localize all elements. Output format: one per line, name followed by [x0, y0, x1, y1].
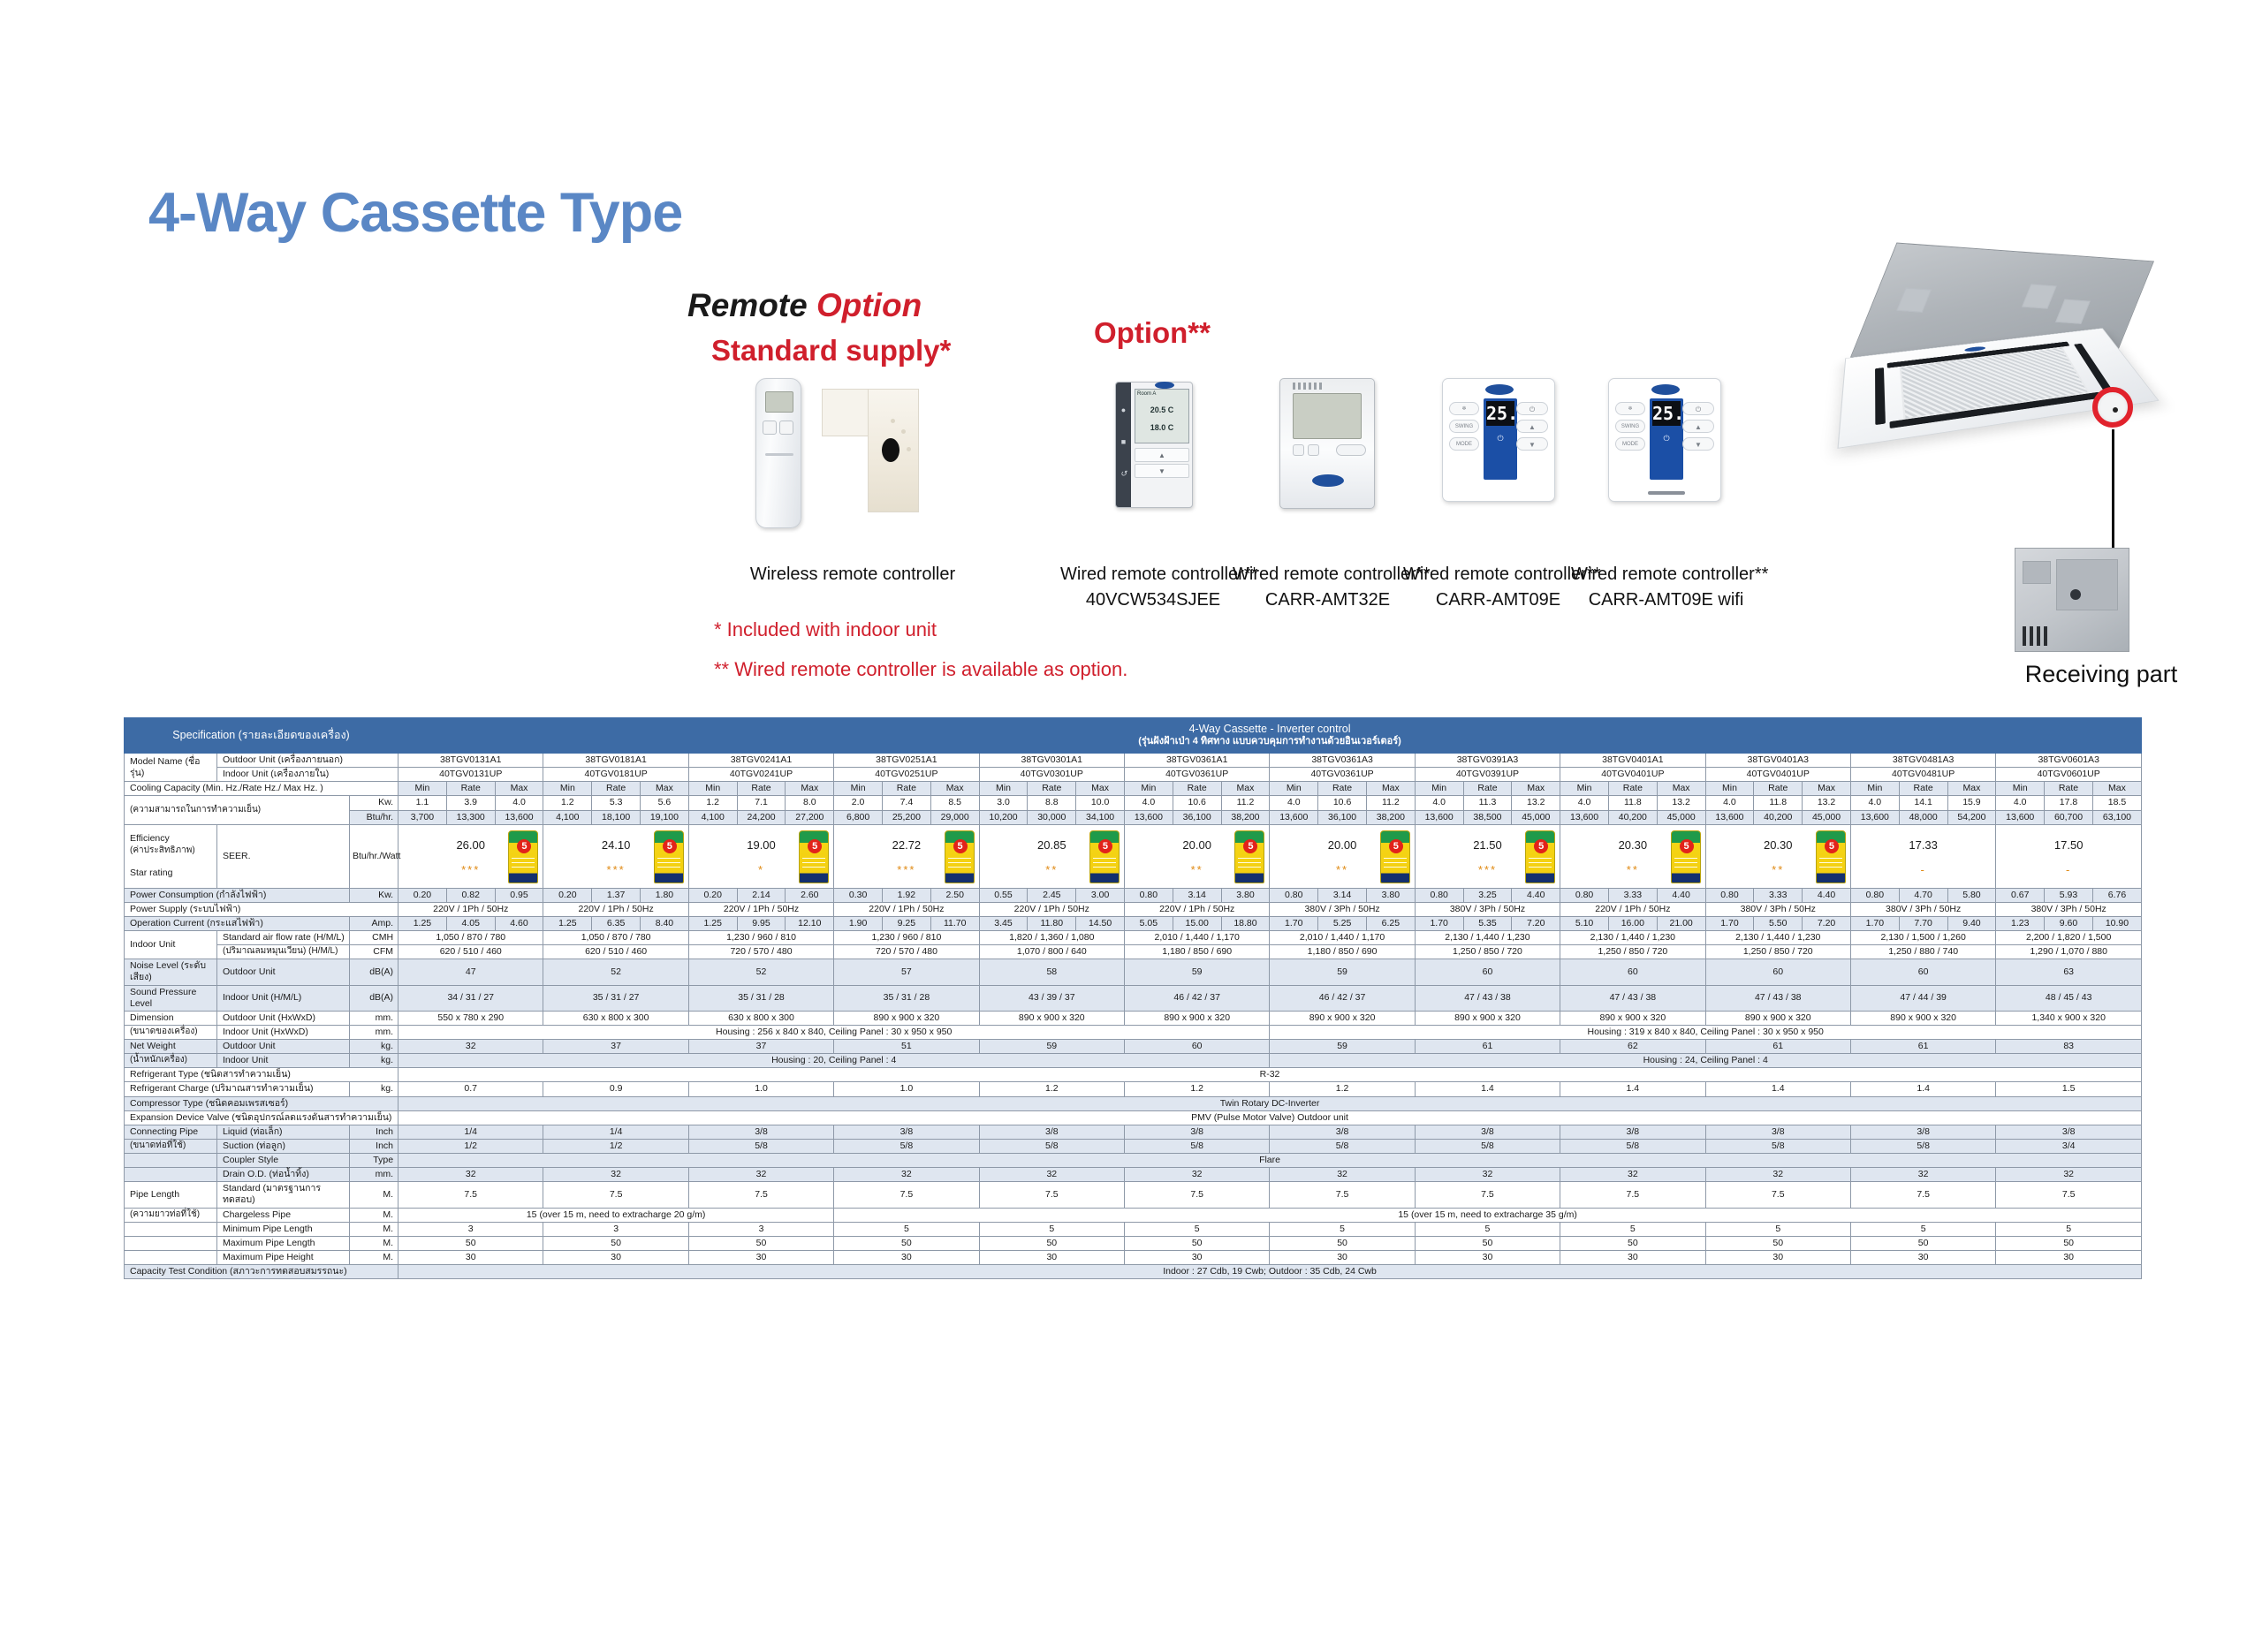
- controller-keys: ▲ ▼: [1135, 448, 1189, 480]
- caption-model: CARR-AMT09E wifi: [1589, 590, 1744, 610]
- cell-cooling-kw: 13.2: [1657, 796, 1705, 810]
- cell-pipe-max: 50: [979, 1236, 1124, 1250]
- spacer: [125, 1236, 217, 1250]
- option-label: Option**: [1094, 316, 1211, 350]
- remote-option-heading-bold: Remote: [687, 287, 808, 323]
- cell-refrigerant-charge: 1.0: [834, 1082, 979, 1096]
- cell-indoor-model: 40TGV0401UP: [1705, 768, 1850, 782]
- cell-outdoor-model: 38TGV0361A1: [1124, 754, 1269, 768]
- cell-outdoor-model: 38TGV0361A3: [1270, 754, 1415, 768]
- cell-cooling-kw: 5.6: [641, 796, 689, 810]
- cell-pipe-height: 30: [1270, 1250, 1415, 1264]
- caption-text: Wired remote controller**: [1233, 565, 1430, 584]
- cell-noise-outdoor: 52: [688, 959, 833, 985]
- controller-left-buttons: ❄ SWING MODE: [1449, 402, 1479, 455]
- cell-pipe-max: 50: [1850, 1236, 1995, 1250]
- cell-drain-od: 32: [399, 1168, 543, 1182]
- cell-pipe-min: 3: [688, 1222, 833, 1236]
- cell-power-supply: 220V / 1Ph / 50Hz: [399, 902, 543, 916]
- cell-indoor-model: 40TGV0301UP: [979, 768, 1124, 782]
- cell-cooling-kw: 4.0: [1270, 796, 1318, 810]
- cell-indoor-model: 40TGV0361UP: [1124, 768, 1269, 782]
- cell-seer-value: 17.33: [1854, 838, 1993, 853]
- caption-wired-carr-amt09e-wifi: Wired remote controller** CARR-AMT09E wi…: [1571, 562, 1761, 613]
- cell-pipe-max: 50: [1415, 1236, 1560, 1250]
- cell-pipe-suction: 1/2: [543, 1139, 688, 1153]
- cell-cooling-btu: 13,300: [446, 810, 495, 824]
- swing-button: SWING: [1449, 420, 1479, 433]
- cell-outdoor-model: 38TGV0241A1: [688, 754, 833, 768]
- caption-model: CARR-AMT09E: [1436, 590, 1560, 610]
- cell-outdoor-model: 38TGV0391A3: [1415, 754, 1560, 768]
- cell-cooling-btu: 40,200: [1754, 810, 1803, 824]
- cell-weight-outdoor: 61: [1850, 1040, 1995, 1054]
- unit-kw: Kw.: [350, 888, 399, 902]
- cell-pipe-min: 3: [399, 1222, 543, 1236]
- energy-label-no5-icon: 5: [508, 830, 538, 883]
- cell-cooling-btu: 45,000: [1512, 810, 1560, 824]
- cell-outdoor-model: 38TGV0301A1: [979, 754, 1124, 768]
- cell-weight-outdoor: 83: [1996, 1040, 2142, 1054]
- spec-header: Specification (รายละเอียดของเครื่อง): [125, 718, 399, 754]
- unit-m: M.: [350, 1182, 399, 1208]
- row-label-connecting-pipe-thai: (ขนาดท่อที่ใช้): [125, 1139, 217, 1153]
- carrier-logo-icon: [1651, 384, 1680, 395]
- cell-weight-outdoor: 61: [1415, 1040, 1560, 1054]
- cell-refrigerant-charge: 0.9: [543, 1082, 688, 1096]
- cell-operation-current: 11.80: [1028, 916, 1076, 930]
- cell-power-supply: 380V / 3Ph / 50Hz: [1850, 902, 1995, 916]
- cell-cooling-btu: 4,100: [688, 810, 737, 824]
- cell-pipe-standard: 7.5: [1850, 1182, 1995, 1208]
- cell-pipe-max: 50: [834, 1236, 979, 1250]
- table-row: (ขนาดของเครื่อง)Indoor Unit (HxWxD)mm.Ho…: [125, 1025, 2142, 1039]
- cell-pipe-max: 50: [1124, 1236, 1269, 1250]
- caption-wired-carr-amt32e: Wired remote controller** CARR-AMT32E: [1233, 562, 1423, 613]
- cell-air-flow-cfm: 1,250 / 850 / 720: [1415, 945, 1560, 959]
- row-label-indoor-unit: Indoor Unit: [217, 1054, 350, 1068]
- receiving-part-image: [2015, 548, 2129, 652]
- cell-dimension-outdoor: 630 x 800 x 300: [688, 1011, 833, 1025]
- cell-chargeless-left: 15 (over 15 m, need to extracharge 20 g/…: [399, 1208, 834, 1222]
- cell-pipe-max: 50: [688, 1236, 833, 1250]
- cell-operation-current: 5.25: [1318, 916, 1367, 930]
- table-row: Coupler StyleTypeFlare: [125, 1154, 2142, 1168]
- receiver-slits: [2023, 626, 2060, 646]
- cell-power-supply: 380V / 3Ph / 50Hz: [1705, 902, 1850, 916]
- cell-cooling-kw: 11.8: [1754, 796, 1803, 810]
- cell-power-consumption: 1.92: [883, 888, 931, 902]
- cell-cooling-btu: 6,800: [834, 810, 883, 824]
- row-label-outdoor-hwd: Outdoor Unit (HxWxD): [217, 1011, 350, 1025]
- row-label-outdoor-unit: Outdoor Unit: [217, 1040, 350, 1054]
- wireless-remote-slot: [765, 453, 793, 456]
- cell-power-consumption: 0.80: [1705, 888, 1754, 902]
- cell-operation-current: 5.10: [1560, 916, 1609, 930]
- cell-power-consumption: 0.82: [446, 888, 495, 902]
- wired-remote-controller-carr-amt09e-wifi-image: ❄ SWING MODE 25. ❄ ❄ ⏻ ⏻ ▲ ▼: [1608, 378, 1721, 502]
- cell-air-flow-cmh: 1,050 / 870 / 780: [399, 931, 543, 945]
- energy-label-no5-icon: 5: [1525, 830, 1555, 883]
- temperature-display: 25.: [1652, 401, 1681, 426]
- unit-mm: mm.: [350, 1011, 399, 1025]
- cell-coupler-style: Flare: [399, 1154, 2142, 1168]
- cell-power-consumption: 4.40: [1803, 888, 1851, 902]
- cell-noise-outdoor: 57: [834, 959, 979, 985]
- cell-cooling-btu: 10,200: [979, 810, 1028, 824]
- up-button-icon: ▲: [1682, 420, 1714, 433]
- cell-pipe-liquid: 3/8: [1850, 1125, 1995, 1139]
- cell-drain-od: 32: [1996, 1168, 2142, 1182]
- cell-cooling-btu: 60,700: [2045, 810, 2093, 824]
- cell-cooling-kw: 18.5: [2092, 796, 2141, 810]
- col-subheader-rate: Rate: [883, 782, 931, 796]
- row-label-indoor-unit-hml: Indoor Unit (H/M/L): [217, 985, 350, 1011]
- cell-air-flow-cmh: 1,820 / 1,360 / 1,080: [979, 931, 1124, 945]
- row-label-cooling-capacity-thai: (ความสามารถในการทำความเย็น): [125, 796, 350, 824]
- cell-pipe-standard: 7.5: [1996, 1182, 2142, 1208]
- row-label-indoor-unit-group: Indoor Unit: [125, 931, 217, 959]
- cell-indoor-model: 40TGV0401UP: [1560, 768, 1705, 782]
- cell-cooling-btu: 25,200: [883, 810, 931, 824]
- energy-label-no5-icon: 5: [799, 830, 829, 883]
- cell-drain-od: 32: [1850, 1168, 1995, 1182]
- cell-power-consumption: 0.95: [495, 888, 543, 902]
- lcd-temp-heat: 18.0 C: [1137, 423, 1187, 432]
- controller-vents: [1293, 383, 1328, 390]
- cell-indoor-model: 40TGV0391UP: [1415, 768, 1560, 782]
- cell-cooling-btu: 29,000: [930, 810, 979, 824]
- cell-cooling-kw: 4.0: [495, 796, 543, 810]
- wireless-remote-buttons: [763, 421, 796, 436]
- controller-display-panel: 25. ❄ ❄ ⏻: [1650, 398, 1683, 480]
- cell-air-flow-cfm: 1,250 / 850 / 720: [1705, 945, 1850, 959]
- unit-btuhr: Btu/hr.: [350, 810, 399, 824]
- cell-power-consumption: 5.93: [2045, 888, 2093, 902]
- cell-pipe-suction: 5/8: [1124, 1139, 1269, 1153]
- table-row: Cooling Capacity (Min. Hz./Rate Hz./ Max…: [125, 782, 2142, 796]
- cell-compressor-type: Twin Rotary DC-Inverter: [399, 1096, 2142, 1110]
- cell-operation-current: 5.05: [1124, 916, 1173, 930]
- cell-weight-outdoor: 59: [1270, 1040, 1415, 1054]
- row-label-refrigerant-charge: Refrigerant Charge (ปริมาณสารทำความเย็น): [125, 1082, 350, 1096]
- cell-operation-current: 18.80: [1221, 916, 1270, 930]
- cell-pipe-min: 5: [1705, 1222, 1850, 1236]
- table-row: DimensionOutdoor Unit (HxWxD)mm.550 x 78…: [125, 1011, 2142, 1025]
- cell-weight-outdoor: 61: [1705, 1040, 1850, 1054]
- receiving-part-label: Receiving part: [2013, 661, 2190, 688]
- chassis-panel: [2055, 299, 2091, 324]
- up-button-icon: ▲: [1516, 420, 1548, 433]
- cell-pipe-standard: 7.5: [1415, 1182, 1560, 1208]
- cell-air-flow-cfm: 1,180 / 850 / 690: [1270, 945, 1415, 959]
- controller-left-buttons: ❄ SWING MODE: [1615, 402, 1645, 455]
- cell-pipe-height: 30: [1705, 1250, 1850, 1264]
- cell-pipe-height: 30: [1996, 1250, 2142, 1264]
- cell-pipe-max: 50: [1270, 1236, 1415, 1250]
- key-down-icon: ▼: [1135, 464, 1189, 478]
- wifi-module-strip: [1648, 491, 1685, 495]
- cell-refrigerant-type: R-32: [399, 1068, 2142, 1082]
- cell-seer: 24.10***5: [543, 824, 688, 888]
- col-subheader-rate: Rate: [2045, 782, 2093, 796]
- down-button-icon: ▼: [1682, 437, 1714, 451]
- cell-cooling-btu: 24,200: [737, 810, 786, 824]
- cell-noise-indoor: 35 / 31 / 28: [688, 985, 833, 1011]
- cell-cooling-btu: 34,100: [1076, 810, 1125, 824]
- unit-mm: mm.: [350, 1025, 399, 1039]
- cell-air-flow-cmh: 2,130 / 1,440 / 1,230: [1415, 931, 1560, 945]
- unit-amp: Amp.: [350, 916, 399, 930]
- cell-power-consumption: 3.25: [1463, 888, 1512, 902]
- cell-air-flow-cmh: 2,010 / 1,440 / 1,170: [1124, 931, 1269, 945]
- cell-air-flow-cmh: 2,130 / 1,440 / 1,230: [1705, 931, 1850, 945]
- cell-pipe-liquid: 3/8: [1560, 1125, 1705, 1139]
- col-subheader-rate: Rate: [446, 782, 495, 796]
- cell-operation-current: 7.20: [1803, 916, 1851, 930]
- energy-label-no5-icon: 5: [945, 830, 975, 883]
- cell-cooling-btu: 13,600: [1270, 810, 1318, 824]
- cell-outdoor-model: 38TGV0251A1: [834, 754, 979, 768]
- cell-air-flow-cfm: 1,180 / 850 / 690: [1124, 945, 1269, 959]
- cell-pipe-liquid: 3/8: [1705, 1125, 1850, 1139]
- cell-pipe-liquid: 3/8: [834, 1125, 979, 1139]
- cell-pipe-max: 50: [399, 1236, 543, 1250]
- unit-m: M.: [350, 1208, 399, 1222]
- row-label-net-weight-thai: (น้ำหนักเครื่อง): [125, 1054, 217, 1068]
- cell-power-consumption: 0.80: [1850, 888, 1899, 902]
- cell-indoor-model: 40TGV0361UP: [1270, 768, 1415, 782]
- cell-power-consumption: 3.33: [1754, 888, 1803, 902]
- cell-cooling-btu: 13,600: [1415, 810, 1463, 824]
- receiver-recess: [2023, 561, 2051, 584]
- cell-cooling-kw: 15.9: [1947, 796, 1996, 810]
- row-label-indoor-unit: Indoor Unit (เครื่องภายใน): [217, 768, 399, 782]
- cell-cooling-kw: 10.6: [1318, 796, 1367, 810]
- cell-noise-indoor: 46 / 42 / 37: [1270, 985, 1415, 1011]
- holder-dot: [901, 429, 906, 434]
- cell-dimension-outdoor: 630 x 800 x 300: [543, 1011, 688, 1025]
- cell-cooling-kw: 1.2: [688, 796, 737, 810]
- cell-operation-current: 4.05: [446, 916, 495, 930]
- cell-cooling-kw: 4.0: [1415, 796, 1463, 810]
- cell-cooling-kw: 1.1: [399, 796, 447, 810]
- cell-noise-indoor: 48 / 45 / 43: [1996, 985, 2142, 1011]
- col-subheader-max: Max: [930, 782, 979, 796]
- cell-refrigerant-charge: 1.2: [1270, 1082, 1415, 1096]
- cell-cooling-kw: 11.8: [1608, 796, 1657, 810]
- cell-pipe-min: 5: [1996, 1222, 2142, 1236]
- caption-model: 40VCW534SJEE: [1086, 590, 1220, 610]
- row-label-capacity-test: Capacity Test Condition (สภาวะการทดสอบสม…: [125, 1265, 399, 1279]
- cell-pipe-height: 30: [399, 1250, 543, 1264]
- table-row: Maximum Pipe HeightM.3030303030303030303…: [125, 1250, 2142, 1264]
- cell-noise-outdoor: 58: [979, 959, 1124, 985]
- cell-operation-current: 1.25: [688, 916, 737, 930]
- col-subheader-min: Min: [399, 782, 447, 796]
- col-subheader-rate: Rate: [1318, 782, 1367, 796]
- cell-power-consumption: 2.60: [786, 888, 834, 902]
- table-row: Power Consumption (กำลังไฟฟ้า)Kw.0.200.8…: [125, 888, 2142, 902]
- cell-pipe-min: 5: [1415, 1222, 1560, 1236]
- cell-cooling-btu: 13,600: [1850, 810, 1899, 824]
- spacer: [125, 1168, 217, 1182]
- remote-option-heading-italic: Option: [816, 287, 922, 323]
- cell-refrigerant-charge: 1.4: [1415, 1082, 1560, 1096]
- receiving-part-leader-line: [2112, 429, 2114, 551]
- air-louver: [1875, 368, 1886, 425]
- col-subheader-max: Max: [1076, 782, 1125, 796]
- cell-power-consumption: 5.80: [1947, 888, 1996, 902]
- cell-refrigerant-charge: 1.4: [1850, 1082, 1995, 1096]
- cell-operation-current: 15.00: [1173, 916, 1221, 930]
- down-button-icon: ▼: [1516, 437, 1548, 451]
- swing-button: SWING: [1615, 420, 1645, 433]
- cell-air-flow-cfm: 720 / 570 / 480: [688, 945, 833, 959]
- cell-operation-current: 1.25: [399, 916, 447, 930]
- cell-pipe-height: 30: [1850, 1250, 1995, 1264]
- cell-cooling-btu: 38,200: [1221, 810, 1270, 824]
- cell-operation-current: 8.40: [641, 916, 689, 930]
- cell-pipe-min: 3: [543, 1222, 688, 1236]
- cell-noise-indoor: 35 / 31 / 28: [834, 985, 979, 1011]
- cell-weight-outdoor: 60: [1124, 1040, 1269, 1054]
- row-label-net-weight: Net Weight: [125, 1040, 217, 1054]
- col-subheader-min: Min: [1270, 782, 1318, 796]
- table-row: Power Supply (ระบบไฟฟ้า)220V / 1Ph / 50H…: [125, 902, 2142, 916]
- cell-pipe-max: 50: [1560, 1236, 1705, 1250]
- cell-cooling-kw: 2.0: [834, 796, 883, 810]
- cell-noise-outdoor: 59: [1270, 959, 1415, 985]
- cell-pipe-standard: 7.5: [399, 1182, 543, 1208]
- cell-refrigerant-charge: 1.4: [1705, 1082, 1850, 1096]
- cell-power-consumption: 0.67: [1996, 888, 2045, 902]
- cell-operation-current: 4.60: [495, 916, 543, 930]
- row-label-air-flow: Standard air flow rate (H/M/L): [217, 931, 350, 945]
- cell-operation-current: 1.70: [1850, 916, 1899, 930]
- cell-refrigerant-charge: 1.0: [688, 1082, 833, 1096]
- table-row: Maximum Pipe LengthM.5050505050505050505…: [125, 1236, 2142, 1250]
- col-subheader-rate: Rate: [1028, 782, 1076, 796]
- cell-cooling-btu: 13,600: [1124, 810, 1173, 824]
- row-label-drain-od: Drain O.D. (ท่อน้ำทิ้ง): [217, 1168, 350, 1182]
- cell-drain-od: 32: [1270, 1168, 1415, 1182]
- cell-operation-current: 5.50: [1754, 916, 1803, 930]
- cell-seer: 17.50-: [1996, 824, 2142, 888]
- cell-pipe-min: 5: [834, 1222, 979, 1236]
- cell-pipe-suction: 5/8: [979, 1139, 1124, 1153]
- table-row: Model Name (ชื่อรุ่น)Outdoor Unit (เครื่…: [125, 754, 2142, 768]
- table-row: Refrigerant Type (ชนิดสารทำความเย็น)R-32: [125, 1068, 2142, 1082]
- cell-cooling-btu: 54,200: [1947, 810, 1996, 824]
- cell-air-flow-cmh: 2,130 / 1,500 / 1,260: [1850, 931, 1995, 945]
- cell-indoor-model: 40TGV0481UP: [1850, 768, 1995, 782]
- cell-pipe-height: 30: [1415, 1250, 1560, 1264]
- cell-seer: 20.30**5: [1705, 824, 1850, 888]
- col-subheader-rate: Rate: [1463, 782, 1512, 796]
- cell-operation-current: 3.45: [979, 916, 1028, 930]
- standard-supply-label: Standard supply*: [711, 334, 951, 368]
- cell-power-consumption: 0.20: [543, 888, 592, 902]
- unit-btuhr-watt: Btu/hr./Watt: [350, 824, 399, 888]
- cell-power-consumption: 1.37: [592, 888, 641, 902]
- cell-indoor-model: 40TGV0251UP: [834, 768, 979, 782]
- cell-dimension-outdoor: 890 x 900 x 320: [1705, 1011, 1850, 1025]
- cell-power-consumption: 2.50: [930, 888, 979, 902]
- cell-power-consumption: 0.80: [1415, 888, 1463, 902]
- cell-power-consumption: 0.80: [1560, 888, 1609, 902]
- col-subheader-rate: Rate: [592, 782, 641, 796]
- receiver-led-icon: [2070, 589, 2081, 600]
- controller-right-buttons: ⏻ ▲ ▼: [1516, 402, 1548, 455]
- cell-pipe-liquid: 3/8: [1415, 1125, 1560, 1139]
- cell-power-supply: 220V / 1Ph / 50Hz: [834, 902, 979, 916]
- cell-cooling-btu: 38,500: [1463, 810, 1512, 824]
- col-subheader-min: Min: [834, 782, 883, 796]
- cell-operation-current: 7.20: [1512, 916, 1560, 930]
- cell-dimension-outdoor: 890 x 900 x 320: [1560, 1011, 1705, 1025]
- table-row: (น้ำหนักเครื่อง)Indoor Unitkg.Housing : …: [125, 1054, 2142, 1068]
- caption-text: Wireless remote controller: [750, 565, 955, 584]
- wired-remote-controller-carr-amt09e-image: ❄ SWING MODE 25. ❄ ❄ ⏻ ⏻ ▲ ▼: [1442, 378, 1555, 502]
- cell-cooling-kw: 1.2: [543, 796, 592, 810]
- table-row: Indoor UnitStandard air flow rate (H/M/L…: [125, 931, 2142, 945]
- cell-cooling-kw: 5.3: [592, 796, 641, 810]
- cell-power-supply: 220V / 1Ph / 50Hz: [1124, 902, 1269, 916]
- cell-operation-current: 1.70: [1415, 916, 1463, 930]
- cell-drain-od: 32: [688, 1168, 833, 1182]
- col-subheader-min: Min: [1996, 782, 2045, 796]
- note-included-with-indoor-unit: * Included with indoor unit: [714, 618, 937, 641]
- cell-operation-current: 1.70: [1270, 916, 1318, 930]
- col-subheader-min: Min: [1415, 782, 1463, 796]
- cell-cooling-btu: 3,700: [399, 810, 447, 824]
- table-row: Refrigerant Charge (ปริมาณสารทำความเย็น)…: [125, 1082, 2142, 1096]
- cell-cooling-kw: 8.0: [786, 796, 834, 810]
- indoor-unit-illustration: [1847, 243, 2235, 464]
- cell-cooling-btu: 13,600: [1560, 810, 1609, 824]
- cell-weight-outdoor: 62: [1560, 1040, 1705, 1054]
- cell-power-consumption: 4.40: [1657, 888, 1705, 902]
- table-row: Sound Pressure LevelIndoor Unit (H/M/L)d…: [125, 985, 2142, 1011]
- cell-cooling-kw: 10.6: [1173, 796, 1221, 810]
- row-label-dimension-thai: (ขนาดของเครื่อง): [125, 1025, 217, 1039]
- cell-pipe-max: 50: [1996, 1236, 2142, 1250]
- unit-mm: mm.: [350, 1168, 399, 1182]
- caption-text: Wired remote controller**: [1060, 565, 1257, 584]
- row-label-dimension: Dimension: [125, 1011, 217, 1025]
- fan-icon: ❄: [1449, 402, 1479, 415]
- cell-noise-outdoor: 60: [1850, 959, 1995, 985]
- cell-operation-current: 1.90: [834, 916, 883, 930]
- cell-pipe-suction: 5/8: [1705, 1139, 1850, 1153]
- cell-refrigerant-charge: 0.7: [399, 1082, 543, 1096]
- cell-weight-outdoor: 37: [543, 1040, 688, 1054]
- power-icon: ⏻: [1484, 434, 1517, 443]
- controller-right-buttons: ⏻ ▲ ▼: [1682, 402, 1714, 455]
- cell-cooling-btu: 48,000: [1899, 810, 1947, 824]
- cell-expansion-device: PMV (Pulse Motor Valve) Outdoor unit: [399, 1110, 2142, 1125]
- row-label-coupler-style: Coupler Style: [217, 1154, 350, 1168]
- cell-pipe-height: 30: [834, 1250, 979, 1264]
- cell-weight-outdoor: 51: [834, 1040, 979, 1054]
- unit-cmh: CMH: [350, 931, 399, 945]
- carrier-logo-icon: [1485, 384, 1514, 395]
- cell-cooling-kw: 4.0: [1996, 796, 2045, 810]
- cell-operation-current: 11.70: [930, 916, 979, 930]
- cell-dimension-outdoor: 890 x 900 x 320: [834, 1011, 979, 1025]
- cell-cooling-btu: 4,100: [543, 810, 592, 824]
